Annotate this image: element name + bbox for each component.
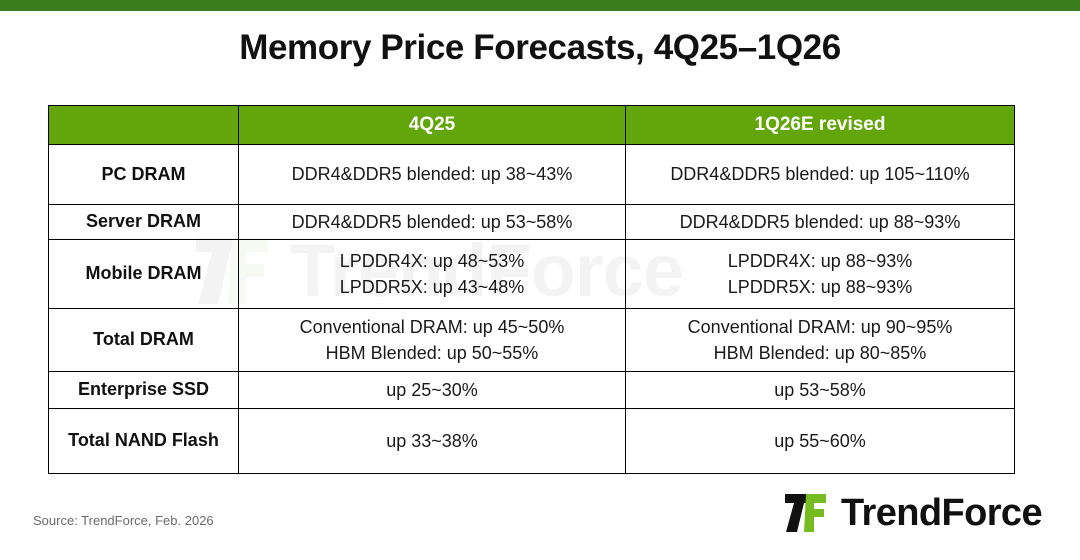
trendforce-logo: TrendForce xyxy=(781,490,1042,536)
top-accent-bar xyxy=(0,0,1080,11)
table-row: Mobile DRAM LPDDR4X: up 48~53% LPDDR5X: … xyxy=(49,240,1015,309)
memory-price-forecast-table: 4Q25 1Q26E revised PC DRAM DDR4&DDR5 ble… xyxy=(48,105,1015,474)
trendforce-logo-text: TrendForce xyxy=(841,494,1042,532)
row-label-total-nand-flash: Total NAND Flash xyxy=(49,409,239,474)
slide-canvas: Memory Price Forecasts, 4Q25–1Q26 TrendF… xyxy=(0,0,1080,560)
cell-mobile-dram-4q25: LPDDR4X: up 48~53% LPDDR5X: up 43~48% xyxy=(239,240,626,309)
cell-line: LPDDR4X: up 88~93% xyxy=(634,248,1006,274)
table-row: Enterprise SSD up 25~30% up 53~58% xyxy=(49,372,1015,409)
cell-line: DDR4&DDR5 blended: up 53~58% xyxy=(247,209,617,235)
column-header-1q26e-revised: 1Q26E revised xyxy=(626,106,1015,145)
cell-line: HBM Blended: up 50~55% xyxy=(247,340,617,366)
table-header-row: 4Q25 1Q26E revised xyxy=(49,106,1015,145)
table-row: PC DRAM DDR4&DDR5 blended: up 38~43% DDR… xyxy=(49,145,1015,205)
cell-enterprise-ssd-1q26e: up 53~58% xyxy=(626,372,1015,409)
column-header-category xyxy=(49,106,239,145)
cell-total-nand-flash-1q26e: up 55~60% xyxy=(626,409,1015,474)
cell-line: up 33~38% xyxy=(247,428,617,454)
cell-line: DDR4&DDR5 blended: up 88~93% xyxy=(634,209,1006,235)
cell-total-nand-flash-4q25: up 33~38% xyxy=(239,409,626,474)
cell-line: up 53~58% xyxy=(634,377,1006,403)
cell-line: LPDDR4X: up 48~53% xyxy=(247,248,617,274)
cell-line: DDR4&DDR5 blended: up 38~43% xyxy=(247,161,617,187)
page-title: Memory Price Forecasts, 4Q25–1Q26 xyxy=(0,28,1080,68)
cell-total-dram-1q26e: Conventional DRAM: up 90~95% HBM Blended… xyxy=(626,309,1015,372)
table-row: Total DRAM Conventional DRAM: up 45~50% … xyxy=(49,309,1015,372)
row-label-total-dram: Total DRAM xyxy=(49,309,239,372)
cell-line: LPDDR5X: up 88~93% xyxy=(634,274,1006,300)
source-note: Source: TrendForce, Feb. 2026 xyxy=(33,513,214,528)
cell-line: DDR4&DDR5 blended: up 105~110% xyxy=(634,161,1006,187)
row-label-server-dram: Server DRAM xyxy=(49,205,239,240)
cell-pc-dram-4q25: DDR4&DDR5 blended: up 38~43% xyxy=(239,145,626,205)
cell-line: up 25~30% xyxy=(247,377,617,403)
cell-line: up 55~60% xyxy=(634,428,1006,454)
cell-pc-dram-1q26e: DDR4&DDR5 blended: up 105~110% xyxy=(626,145,1015,205)
row-label-pc-dram: PC DRAM xyxy=(49,145,239,205)
table-body: PC DRAM DDR4&DDR5 blended: up 38~43% DDR… xyxy=(49,145,1015,474)
cell-line: LPDDR5X: up 43~48% xyxy=(247,274,617,300)
cell-line: Conventional DRAM: up 90~95% xyxy=(634,314,1006,340)
table-row: Server DRAM DDR4&DDR5 blended: up 53~58%… xyxy=(49,205,1015,240)
column-header-4q25: 4Q25 xyxy=(239,106,626,145)
forecast-table-container: 4Q25 1Q26E revised PC DRAM DDR4&DDR5 ble… xyxy=(48,105,1014,474)
cell-enterprise-ssd-4q25: up 25~30% xyxy=(239,372,626,409)
cell-line: Conventional DRAM: up 45~50% xyxy=(247,314,617,340)
cell-total-dram-4q25: Conventional DRAM: up 45~50% HBM Blended… xyxy=(239,309,626,372)
cell-mobile-dram-1q26e: LPDDR4X: up 88~93% LPDDR5X: up 88~93% xyxy=(626,240,1015,309)
table-row: Total NAND Flash up 33~38% up 55~60% xyxy=(49,409,1015,474)
cell-server-dram-1q26e: DDR4&DDR5 blended: up 88~93% xyxy=(626,205,1015,240)
table-header: 4Q25 1Q26E revised xyxy=(49,106,1015,145)
trendforce-logo-icon xyxy=(781,492,830,534)
row-label-mobile-dram: Mobile DRAM xyxy=(49,240,239,309)
cell-line: HBM Blended: up 80~85% xyxy=(634,340,1006,366)
row-label-enterprise-ssd: Enterprise SSD xyxy=(49,372,239,409)
cell-server-dram-4q25: DDR4&DDR5 blended: up 53~58% xyxy=(239,205,626,240)
